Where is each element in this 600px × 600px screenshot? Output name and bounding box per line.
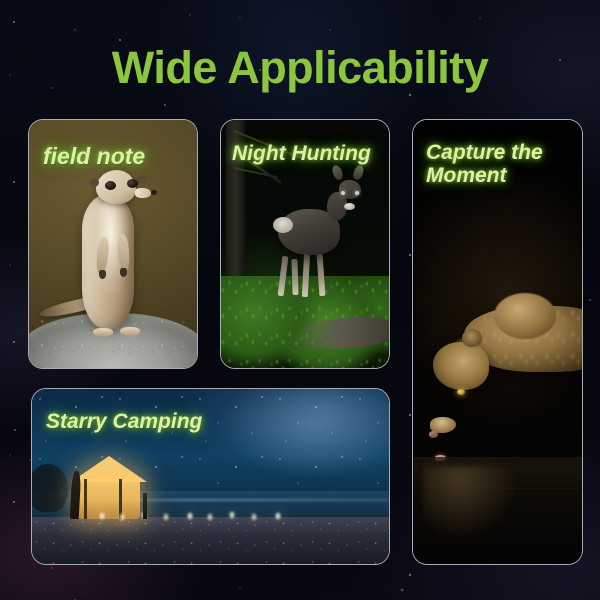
meerkat-eye-left	[105, 181, 116, 190]
page-title: Wide Applicability	[0, 42, 600, 94]
card-label-starry-camping: Starry Camping	[46, 411, 202, 434]
deer-rump-patch	[273, 217, 293, 233]
lioness-eye	[457, 389, 465, 395]
card-label-line-2: Moment	[426, 164, 507, 187]
meerkat-claw-right	[120, 268, 127, 277]
card-capture-moment[interactable]: Capture theMoment	[412, 119, 583, 565]
beach-lights	[96, 511, 282, 522]
meerkat-foot-right	[120, 327, 140, 336]
card-label-capture-moment: Capture theMoment	[426, 142, 543, 187]
card-field-note[interactable]: field note	[28, 119, 198, 369]
card-label-line-1: Capture the	[426, 141, 543, 164]
lioness-ear	[462, 329, 482, 347]
water-reflection	[423, 466, 514, 537]
meerkat-ear-right	[137, 175, 147, 184]
lioness-nose	[429, 431, 438, 438]
meerkat-snout	[135, 188, 151, 198]
lioness-shoulder	[494, 293, 556, 339]
gazebo-pole-left	[84, 479, 87, 519]
deer-leg-back-right	[291, 259, 298, 295]
deer-eye-left	[341, 191, 345, 195]
card-starry-camping[interactable]: Starry Camping	[31, 388, 390, 565]
pebble-beach	[32, 517, 389, 564]
meerkat-claw-left	[99, 270, 106, 279]
card-label-field-note: field note	[43, 144, 145, 169]
lioness-head	[433, 342, 489, 390]
meerkat-eye-right	[127, 179, 138, 188]
card-label-night-hunting: Night Hunting	[232, 143, 371, 166]
gazebo-roof	[71, 456, 147, 482]
poster-canvas: Wide Applicability field note	[0, 0, 600, 600]
beach-post	[143, 493, 147, 519]
card-night-hunting[interactable]: Night Hunting	[220, 119, 390, 369]
deer-head	[339, 180, 361, 199]
